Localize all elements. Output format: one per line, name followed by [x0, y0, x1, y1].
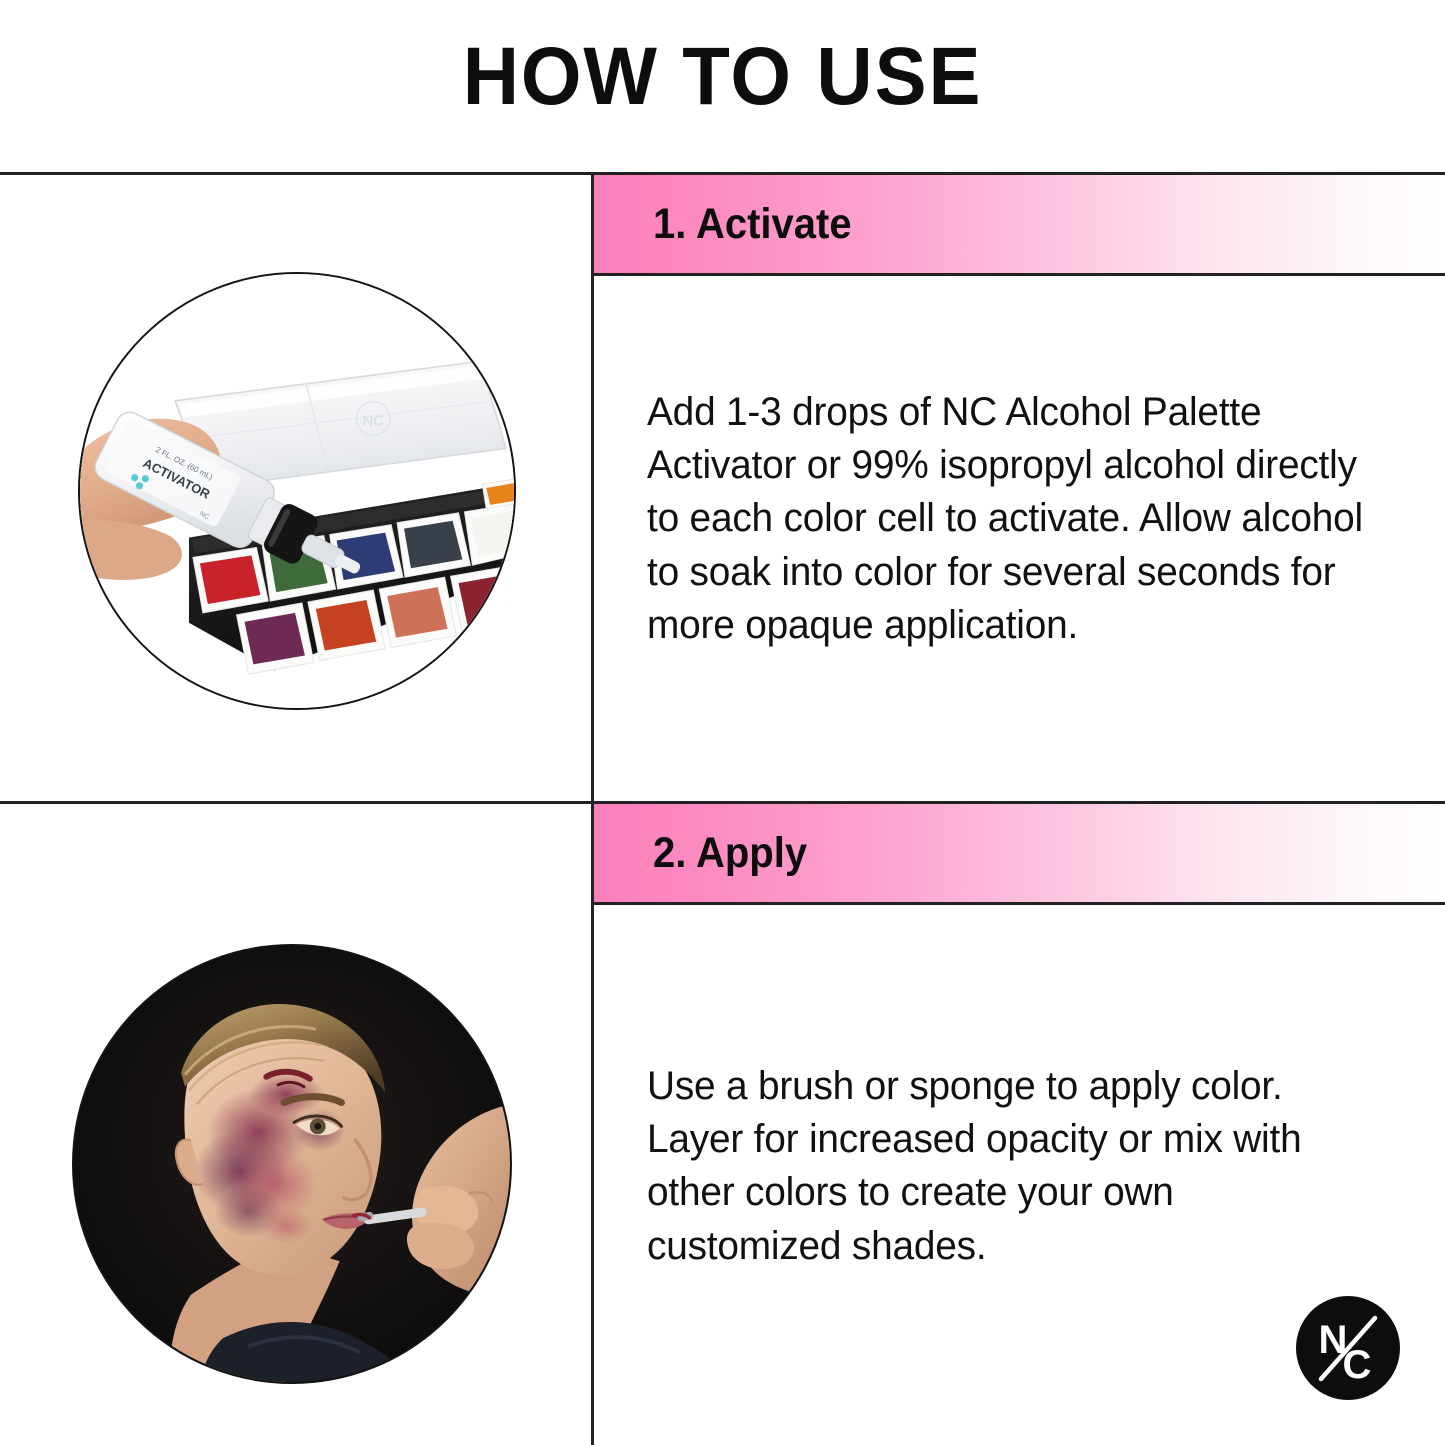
palette-activator-illustration: NC [80, 274, 514, 708]
nc-monogram-svg: N C [1295, 1295, 1401, 1401]
step-label-activate: 1. Activate [653, 200, 852, 249]
model-sfx-makeup-illustration [74, 946, 510, 1382]
palette-activator-photo: NC [78, 272, 516, 710]
step-label-apply: 2. Apply [653, 829, 807, 878]
divider-horizontal-middle [0, 801, 594, 804]
step-header-activate: 1. Activate [594, 172, 1445, 276]
nc-monogram-logo: N C [1295, 1295, 1401, 1401]
model-sfx-makeup-photo [72, 944, 512, 1384]
step-body-apply: Use a brush or sponge to apply color. La… [647, 1060, 1365, 1273]
svg-text:NC: NC [363, 414, 385, 430]
step-header-apply: 2. Apply [594, 801, 1445, 905]
step-body-activate: Add 1-3 drops of NC Alcohol Palette Acti… [647, 386, 1365, 652]
page-title: HOW TO USE [36, 36, 1409, 118]
